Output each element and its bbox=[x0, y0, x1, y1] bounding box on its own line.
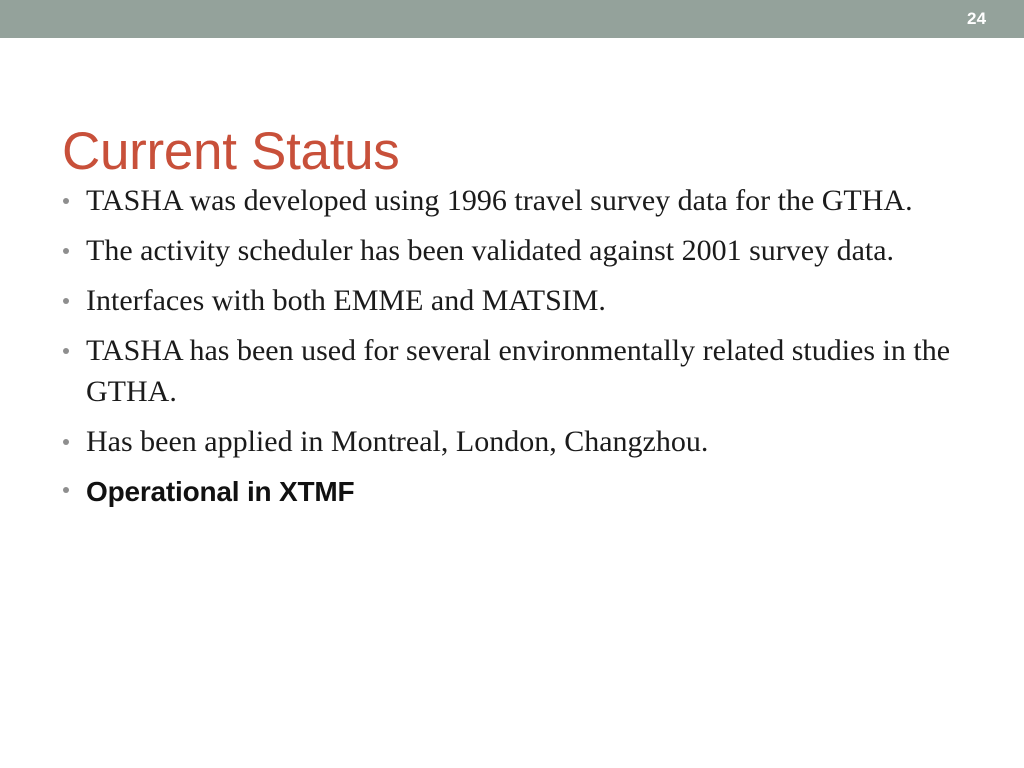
list-item: TASHA has been used for several environm… bbox=[58, 330, 958, 412]
list-item-text: Operational in XTMF bbox=[86, 471, 958, 512]
list-item-text: The activity scheduler has been validate… bbox=[86, 230, 958, 271]
list-item-emphasis: Operational in XTMF bbox=[58, 471, 958, 512]
bullet-list: TASHA was developed using 1996 travel su… bbox=[58, 180, 958, 512]
page-title: Current Status bbox=[62, 124, 400, 180]
list-item-text: Has been applied in Montreal, London, Ch… bbox=[86, 421, 958, 462]
list-item: The activity scheduler has been validate… bbox=[58, 230, 958, 271]
slide-number: 24 bbox=[864, 0, 1024, 38]
bullet-dot-icon bbox=[63, 348, 69, 354]
list-item-text: TASHA was developed using 1996 travel su… bbox=[86, 180, 958, 221]
bullet-dot-icon bbox=[63, 298, 69, 304]
list-item: Interfaces with both EMME and MATSIM. bbox=[58, 280, 958, 321]
bullet-dot-icon bbox=[63, 198, 69, 204]
bullet-dot-icon bbox=[63, 487, 69, 493]
bullet-dot-icon bbox=[63, 439, 69, 445]
list-item: TASHA was developed using 1996 travel su… bbox=[58, 180, 958, 221]
presentation-slide: 24 Current Status TASHA was developed us… bbox=[0, 0, 1024, 768]
list-item: Has been applied in Montreal, London, Ch… bbox=[58, 421, 958, 462]
bullet-dot-icon bbox=[63, 248, 69, 254]
list-item-text: TASHA has been used for several environm… bbox=[86, 330, 958, 412]
list-item-text: Interfaces with both EMME and MATSIM. bbox=[86, 280, 958, 321]
